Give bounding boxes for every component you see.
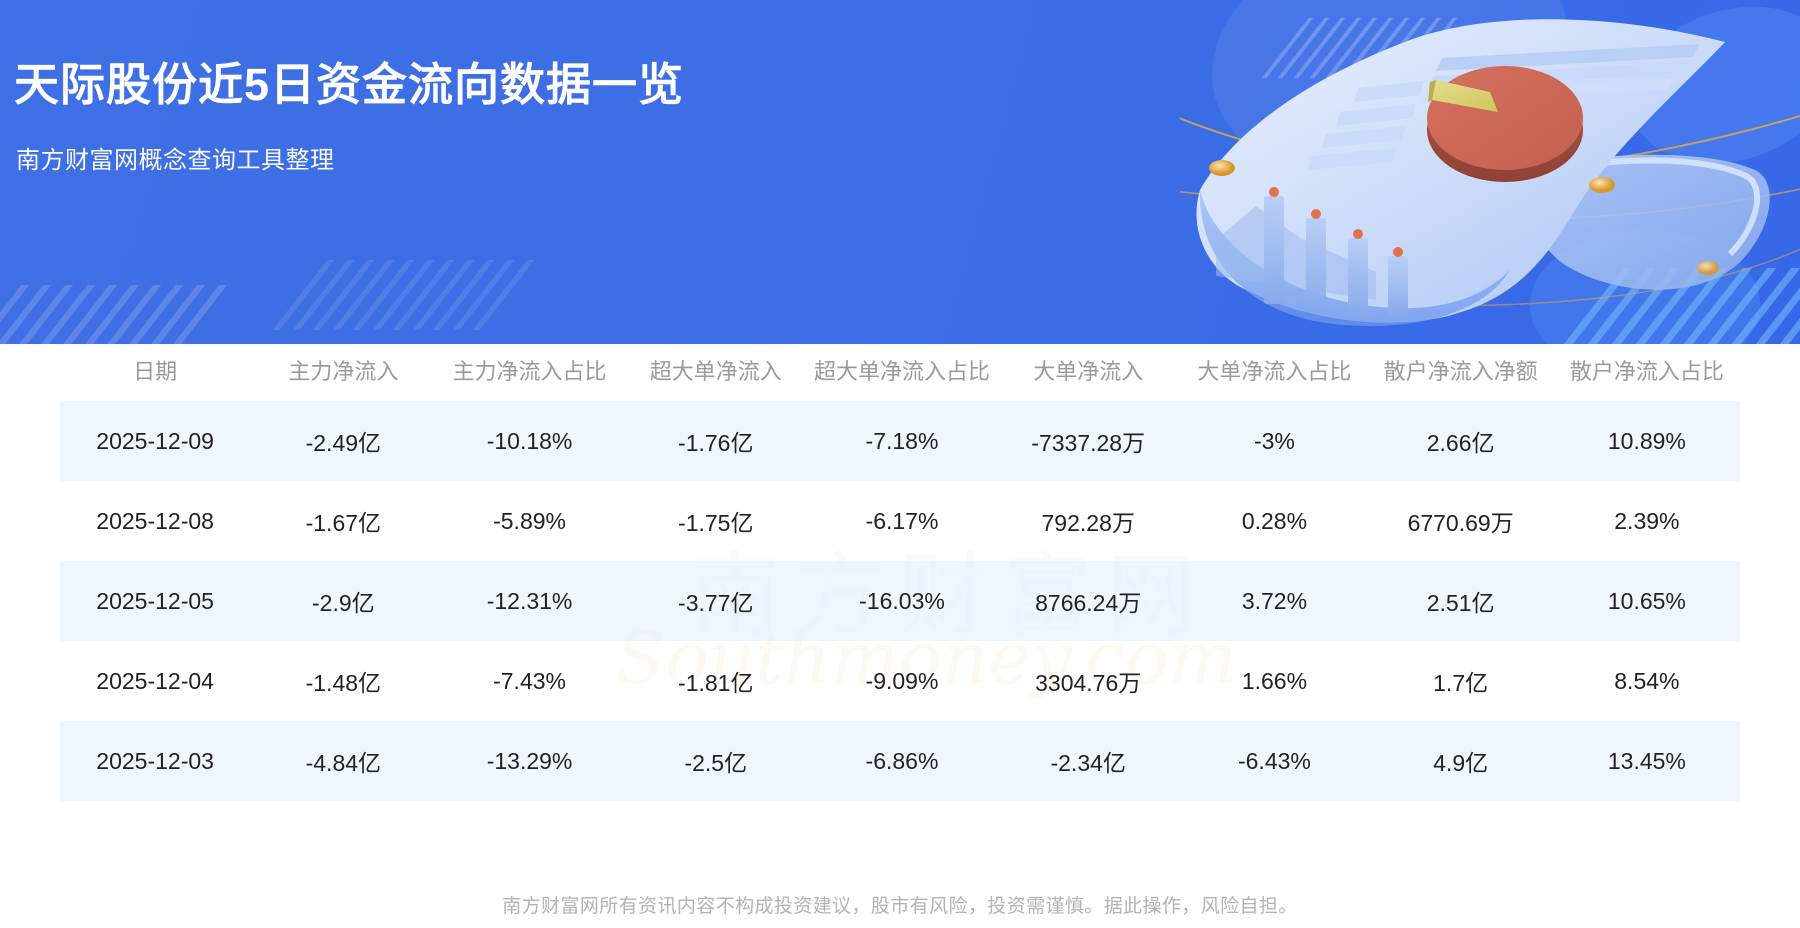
page-subtitle: 南方财富网概念查询工具整理	[16, 140, 335, 175]
cell-xlarge-pct: -7.18%	[809, 401, 995, 481]
cell-xlarge-net: -1.76亿	[623, 401, 809, 481]
cell-main-net: -1.48亿	[250, 641, 436, 721]
cell-large-net: 3304.76万	[995, 641, 1181, 721]
column-header-retail-net: 散户净流入净额	[1368, 344, 1554, 401]
cell-xlarge-pct: -16.03%	[809, 561, 995, 641]
cell-main-pct: -7.43%	[436, 641, 622, 721]
cell-main-net: -2.49亿	[250, 401, 436, 481]
cell-retail-pct: 2.39%	[1554, 481, 1740, 561]
table-row: 2025-12-05 -2.9亿 -12.31% -3.77亿 -16.03% …	[60, 561, 1740, 641]
cell-retail-pct: 10.89%	[1554, 401, 1740, 481]
disclaimer-text: 南方财富网所有资讯内容不构成投资建议，股市有风险，投资需谨慎。据此操作，风险自担…	[502, 891, 1297, 918]
cell-retail-net: 2.51亿	[1368, 561, 1554, 641]
cell-retail-net: 2.66亿	[1368, 401, 1554, 481]
cell-retail-pct: 8.54%	[1554, 641, 1740, 721]
cell-large-pct: 1.66%	[1181, 641, 1367, 721]
cell-main-pct: -10.18%	[436, 401, 622, 481]
cell-large-net: -7337.28万	[995, 401, 1181, 481]
cell-large-net: 8766.24万	[995, 561, 1181, 641]
cell-xlarge-pct: -6.86%	[809, 721, 995, 801]
cell-xlarge-net: -3.77亿	[623, 561, 809, 641]
column-header-xlarge-pct: 超大单净流入占比	[809, 344, 995, 401]
banner-stripes-decoration	[0, 285, 231, 344]
column-header-large-pct: 大单净流入占比	[1181, 344, 1367, 401]
column-header-large-net: 大单净流入	[995, 344, 1181, 401]
cell-large-pct: -3%	[1181, 401, 1367, 481]
cell-large-net: -2.34亿	[995, 721, 1181, 801]
column-header-xlarge-net: 超大单净流入	[623, 344, 809, 401]
page-root: 天际股份近5日资金流向数据一览 南方财富网概念查询工具整理	[0, 0, 1800, 928]
cell-main-net: -2.9亿	[250, 561, 436, 641]
cell-main-pct: -13.29%	[436, 721, 622, 801]
report-chart-illustration	[1180, 0, 1800, 344]
column-header-retail-pct: 散户净流入占比	[1554, 344, 1740, 401]
fund-flow-table: 日期 主力净流入 主力净流入占比 超大单净流入 超大单净流入占比 大单净流入 大…	[60, 344, 1740, 801]
cell-retail-net: 4.9亿	[1368, 721, 1554, 801]
cell-xlarge-pct: -6.17%	[809, 481, 995, 561]
cell-retail-pct: 13.45%	[1554, 721, 1740, 801]
cell-xlarge-net: -2.5亿	[623, 721, 809, 801]
fund-flow-table-section: 南方财富网 Southmoney.com 日期 主力净流入 主力净流入占比 超大…	[0, 344, 1800, 880]
cell-date: 2025-12-09	[60, 401, 250, 481]
table-row: 2025-12-04 -1.48亿 -7.43% -1.81亿 -9.09% 3…	[60, 641, 1740, 721]
banner-stripes-decoration	[273, 260, 538, 330]
column-header-main-pct: 主力净流入占比	[436, 344, 622, 401]
cell-large-pct: -6.43%	[1181, 721, 1367, 801]
cell-main-net: -4.84亿	[250, 721, 436, 801]
cell-retail-net: 6770.69万	[1368, 481, 1554, 561]
cell-large-pct: 0.28%	[1181, 481, 1367, 561]
page-banner: 天际股份近5日资金流向数据一览 南方财富网概念查询工具整理	[0, 0, 1800, 344]
table-row: 2025-12-08 -1.67亿 -5.89% -1.75亿 -6.17% 7…	[60, 481, 1740, 561]
cell-large-pct: 3.72%	[1181, 561, 1367, 641]
cell-xlarge-net: -1.75亿	[623, 481, 809, 561]
cell-xlarge-net: -1.81亿	[623, 641, 809, 721]
cell-date: 2025-12-03	[60, 721, 250, 801]
cell-large-net: 792.28万	[995, 481, 1181, 561]
table-row: 2025-12-09 -2.49亿 -10.18% -1.76亿 -7.18% …	[60, 401, 1740, 481]
page-title: 天际股份近5日资金流向数据一览	[14, 48, 684, 113]
column-header-date: 日期	[60, 344, 250, 401]
cell-date: 2025-12-04	[60, 641, 250, 721]
table-header-row: 日期 主力净流入 主力净流入占比 超大单净流入 超大单净流入占比 大单净流入 大…	[60, 344, 1740, 401]
cell-retail-net: 1.7亿	[1368, 641, 1554, 721]
table-body: 2025-12-09 -2.49亿 -10.18% -1.76亿 -7.18% …	[60, 401, 1740, 801]
table-row: 2025-12-03 -4.84亿 -13.29% -2.5亿 -6.86% -…	[60, 721, 1740, 801]
cell-date: 2025-12-08	[60, 481, 250, 561]
cell-retail-pct: 10.65%	[1554, 561, 1740, 641]
cell-main-pct: -12.31%	[436, 561, 622, 641]
table-header: 日期 主力净流入 主力净流入占比 超大单净流入 超大单净流入占比 大单净流入 大…	[60, 344, 1740, 401]
cell-main-pct: -5.89%	[436, 481, 622, 561]
cell-main-net: -1.67亿	[250, 481, 436, 561]
column-header-main-net: 主力净流入	[250, 344, 436, 401]
cell-xlarge-pct: -9.09%	[809, 641, 995, 721]
footer-disclaimer: 南方财富网所有资讯内容不构成投资建议，股市有风险，投资需谨慎。据此操作，风险自担…	[0, 880, 1800, 928]
cell-date: 2025-12-05	[60, 561, 250, 641]
